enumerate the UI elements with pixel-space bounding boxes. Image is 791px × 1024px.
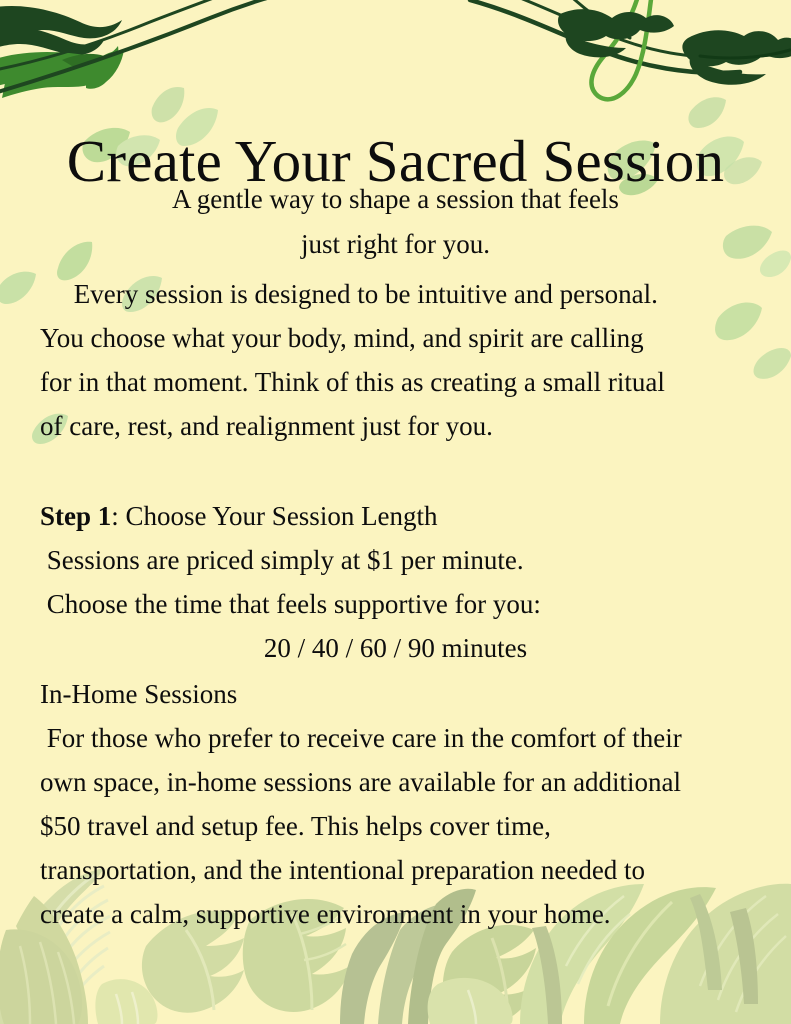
step-one-line: Choose the time that feels supportive fo… [40,582,756,626]
subtitle-line-2: just right for you. [0,231,791,258]
intro-line: You choose what your body, mind, and spi… [40,316,756,360]
in-home-section: In-Home Sessions For those who prefer to… [40,672,756,936]
in-home-line: own space, in-home sessions are availabl… [40,760,756,804]
step-one-line: Sessions are priced simply at $1 per min… [40,538,756,582]
in-home-line: create a calm, supportive environment in… [40,892,756,936]
step-one-heading-rest: : Choose Your Session Length [111,501,437,531]
subtitle-line-1: A gentle way to shape a session that fee… [0,186,791,213]
intro-line: for in that moment. Think of this as cre… [40,360,756,404]
in-home-line: $50 travel and setup fee. This helps cov… [40,804,756,848]
intro-line: of care, rest, and realignment just for … [40,404,756,448]
intro-line: Every session is designed to be intuitiv… [40,272,756,316]
step-one-section: Step 1: Choose Your Session Length Sessi… [40,494,756,626]
page-title: Create Your Sacred Session [0,132,791,191]
in-home-line: transportation, and the intentional prep… [40,848,756,892]
intro-paragraph: Every session is designed to be intuitiv… [40,272,756,448]
step-one-label: Step 1 [40,501,111,531]
in-home-heading: In-Home Sessions [40,672,756,716]
flyer-page: Create Your Sacred Session A gentle way … [0,0,791,1024]
duration-options: 20 / 40 / 60 / 90 minutes [0,626,791,670]
step-one-heading: Step 1: Choose Your Session Length [40,494,756,538]
in-home-line: For those who prefer to receive care in … [40,716,756,760]
